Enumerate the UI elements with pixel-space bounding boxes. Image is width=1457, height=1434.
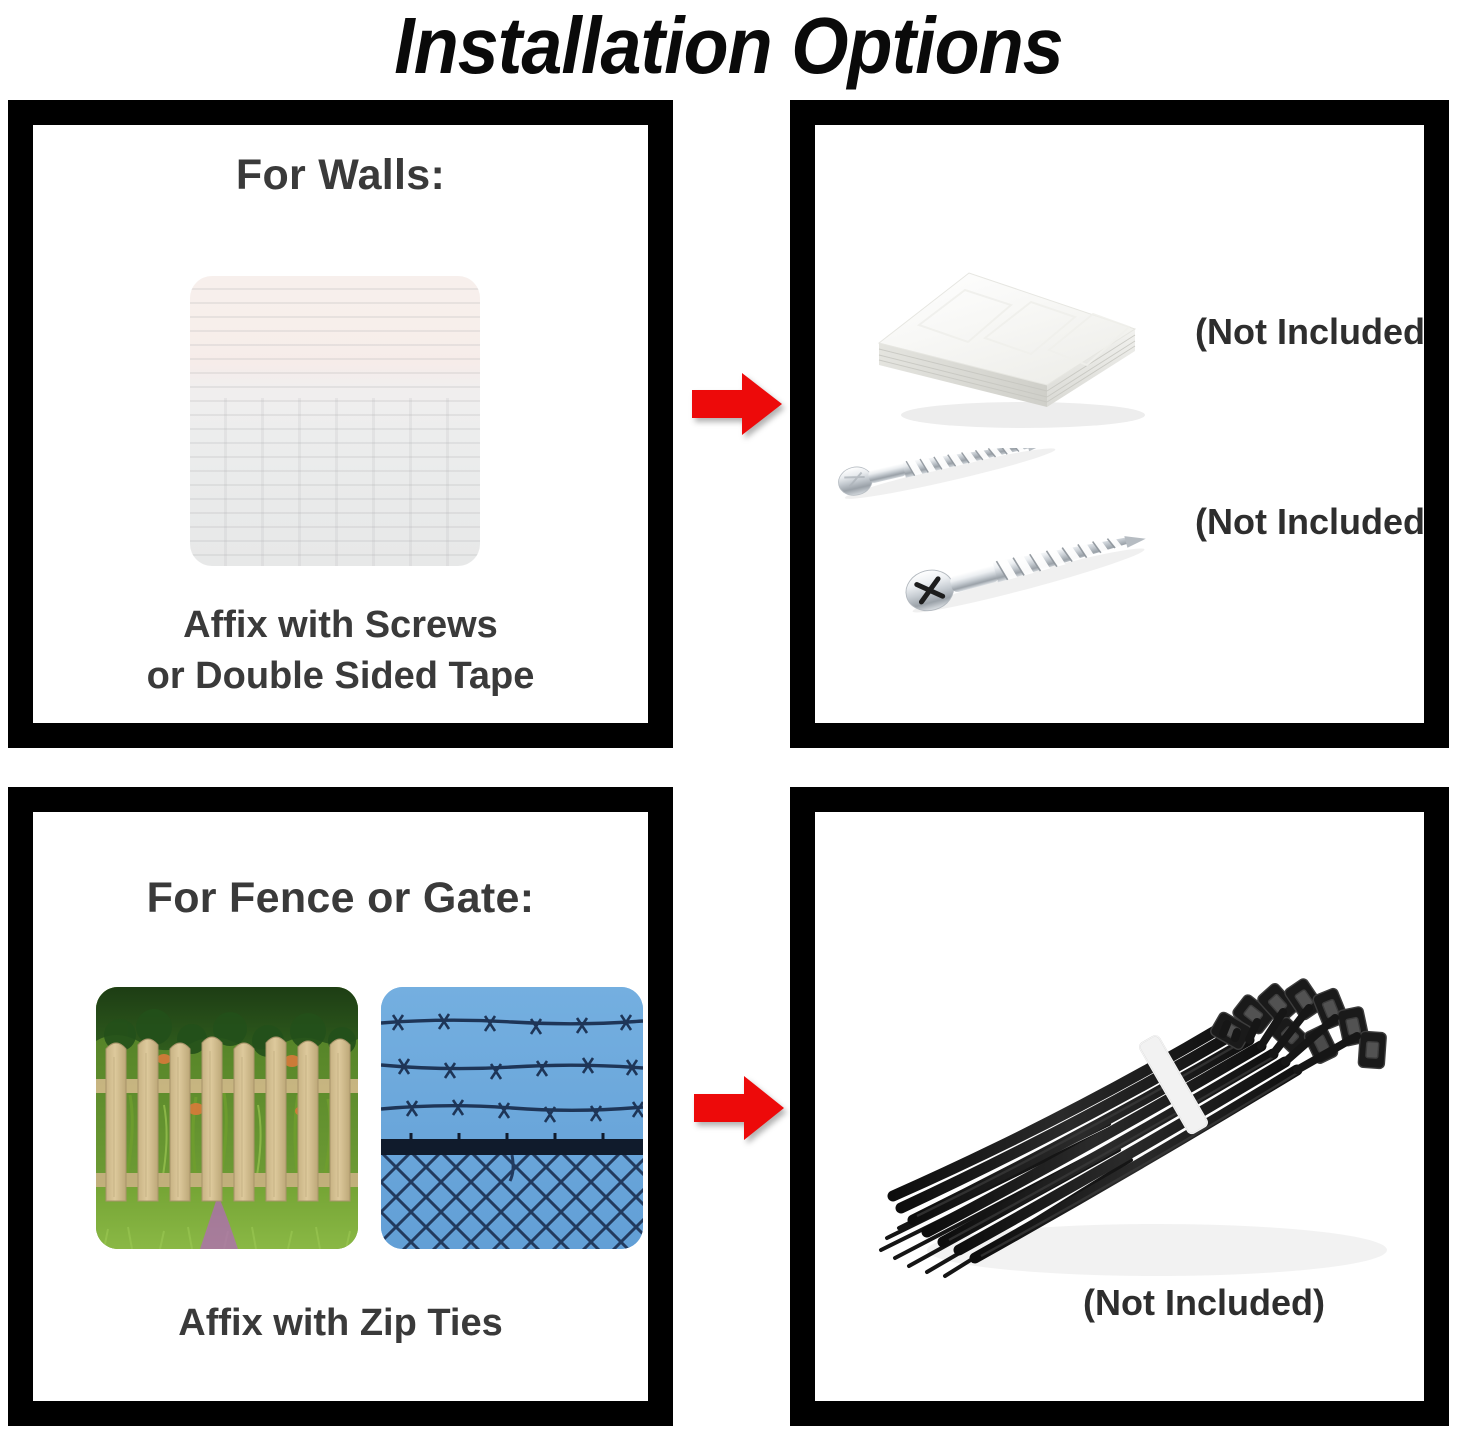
black-zip-tie-bundle-image [857, 920, 1417, 1310]
chain-link-barbed-wire-thumbnail [381, 987, 643, 1249]
panel-for-walls-content: For Walls: Affix with Screws or Double S… [33, 125, 648, 723]
panel-for-walls: For Walls: Affix with Screws or Double S… [8, 100, 673, 748]
panel-for-fence-content: For Fence or Gate: [33, 812, 648, 1401]
panel-for-fence-or-gate: For Fence or Gate: [8, 787, 673, 1426]
tape-not-included-label: (Not Included) [1195, 311, 1424, 353]
zip-ties-not-included-label: (Not Included) [1083, 1282, 1325, 1324]
panel-wall-hardware: (Not Included) [790, 100, 1449, 748]
for-fence-caption: Affix with Zip Ties [33, 1298, 648, 1349]
panel-zip-ties-content: (Not Included) [815, 812, 1424, 1401]
red-right-arrow-icon-top [692, 373, 782, 435]
red-right-arrow-icon-bottom [694, 1076, 784, 1140]
page-title: Installation Options [58, 0, 1398, 92]
for-walls-caption-line-2: or Double Sided Tape [33, 651, 648, 702]
for-walls-caption-line-1: Affix with Screws [33, 600, 648, 651]
white-brick-wall-thumbnail [190, 276, 480, 566]
for-walls-heading: For Walls: [33, 151, 648, 200]
double-sided-tape-stack-image [873, 247, 1173, 432]
panel-wall-hardware-content: (Not Included) [815, 125, 1424, 723]
silver-screws-image [829, 448, 1229, 678]
screws-not-included-label: (Not Included) [1195, 501, 1424, 543]
panel-zip-ties: (Not Included) [790, 787, 1449, 1426]
for-fence-heading: For Fence or Gate: [33, 874, 648, 923]
wooden-picket-fence-thumbnail [96, 987, 358, 1249]
